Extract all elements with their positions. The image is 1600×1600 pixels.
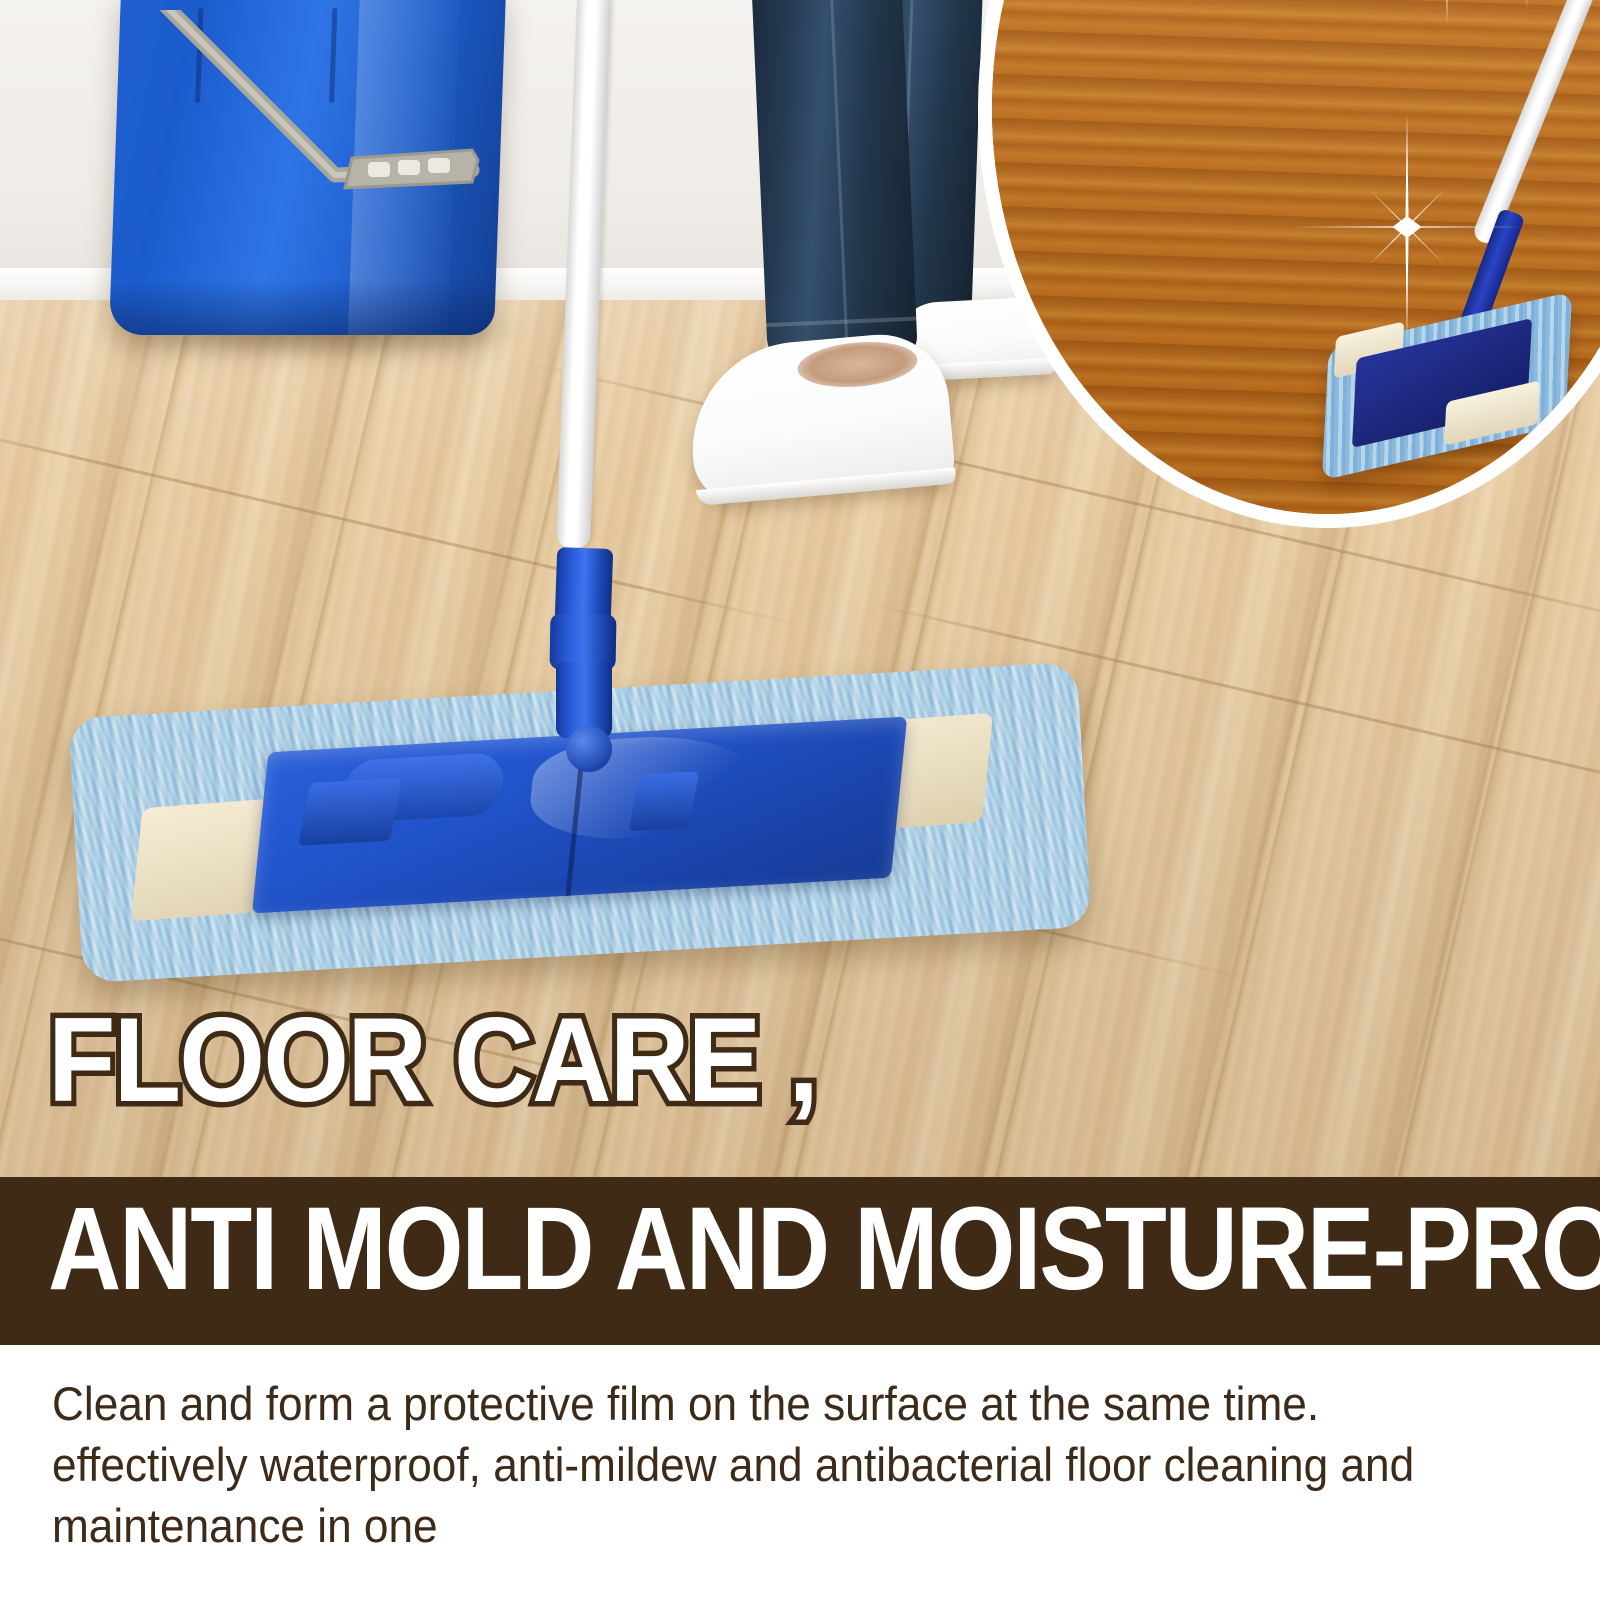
bucket-rib — [329, 8, 337, 103]
mop-head-clip — [629, 771, 700, 831]
mop-head-clip — [298, 778, 402, 846]
bucket-rib — [195, 8, 203, 103]
mop-pivot-knob — [566, 726, 612, 772]
headline-secondary: ANTI MOLD AND MOISTURE-PROOF — [48, 1190, 1600, 1308]
sparkle-icon-small — [1387, 0, 1507, 27]
floor-plank-joint — [0, 420, 797, 625]
description-text: Clean and form a protective film on the … — [52, 1373, 1504, 1556]
leg-front — [752, 0, 918, 368]
mop-joint-upper — [555, 547, 613, 621]
denim-cuff-line — [766, 317, 916, 328]
main-photo-scene: FLOOR CARE , — [0, 0, 1600, 1178]
shoe-opening — [796, 337, 919, 391]
product-poster: FLOOR CARE , ANTI MOLD AND MOISTURE-PROO… — [0, 0, 1600, 1600]
description-block: Clean and form a protective film on the … — [0, 1345, 1600, 1600]
denim-seam — [830, 0, 849, 365]
bucket-base-shade — [109, 279, 496, 335]
mop-bucket — [109, 0, 506, 335]
headline-primary: FLOOR CARE , — [48, 1000, 817, 1120]
inset-circle-frame — [978, 0, 1600, 528]
sparkle-icon-large — [1292, 112, 1522, 342]
inset-photo — [992, 0, 1600, 514]
